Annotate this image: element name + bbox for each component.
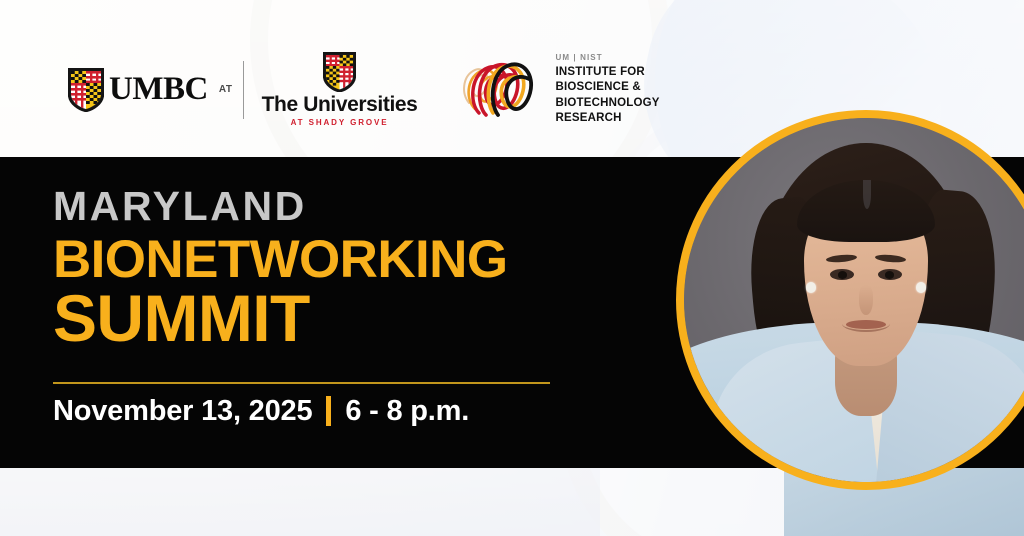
ibbr-ribbon-mark-icon xyxy=(453,53,545,127)
logo-divider-rule xyxy=(243,61,244,119)
ibbr-name-line-3: BIOTECHNOLOGY xyxy=(555,96,659,111)
portrait-mouth xyxy=(846,320,886,329)
ibbr-name-line-1: INSTITUTE FOR xyxy=(555,65,659,80)
logo-bar: UMBC AT xyxy=(68,52,660,127)
portrait-nose xyxy=(859,285,872,314)
speaker-headshot-image xyxy=(684,118,1024,482)
logo-connector: AT xyxy=(219,61,244,119)
usg-maryland-shield-icon xyxy=(323,52,356,92)
usg-wordmark: The Universities xyxy=(262,94,418,115)
hero-title-line-1: BIONETWORKING xyxy=(53,233,507,287)
portrait-earring-right xyxy=(916,282,927,293)
umbc-wordmark: UMBC xyxy=(109,73,208,106)
umbc-logo[interactable]: UMBC xyxy=(68,68,208,112)
hero-datetime: November 13, 2025 6 - 8 p.m. xyxy=(53,396,469,426)
hero-kicker: MARYLAND xyxy=(53,186,507,227)
ibbr-name: INSTITUTE FOR BIOSCIENCE & BIOTECHNOLOGY… xyxy=(555,65,659,126)
ibbr-eyebrow: UM | NIST xyxy=(555,53,659,62)
datetime-separator xyxy=(326,396,331,426)
usg-logo[interactable]: The Universities AT SHADY GROVE xyxy=(262,52,418,127)
hero-gold-rule xyxy=(53,382,550,384)
usg-subline: AT SHADY GROVE xyxy=(291,118,389,127)
ibbr-name-line-4: RESEARCH xyxy=(555,111,659,126)
ibbr-logo[interactable]: UM | NIST INSTITUTE FOR BIOSCIENCE & BIO… xyxy=(453,53,659,127)
portrait-earring-left xyxy=(806,282,817,293)
connector-label: AT xyxy=(219,84,233,95)
portrait-pupil-right xyxy=(885,271,894,279)
hero-headline: MARYLAND BIONETWORKING SUMMIT xyxy=(53,186,507,351)
event-time: 6 - 8 p.m. xyxy=(345,397,469,426)
hero-title-line-2: SUMMIT xyxy=(53,285,507,351)
portrait-pupil-left xyxy=(838,271,847,279)
ibbr-name-line-2: BIOSCIENCE & xyxy=(555,80,659,95)
umbc-maryland-shield-icon xyxy=(68,68,104,112)
ibbr-text-block: UM | NIST INSTITUTE FOR BIOSCIENCE & BIO… xyxy=(555,53,659,126)
event-date: November 13, 2025 xyxy=(53,397,312,426)
event-banner: UMBC AT xyxy=(0,0,1024,536)
